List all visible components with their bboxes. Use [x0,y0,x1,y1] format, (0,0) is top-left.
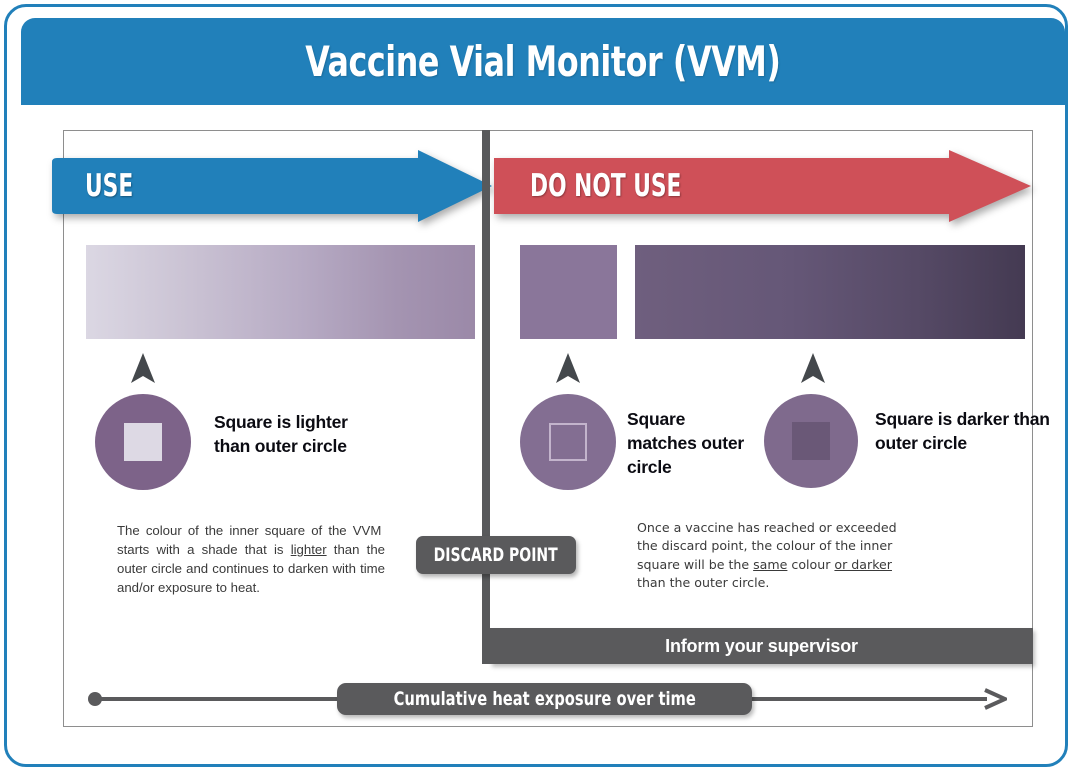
discard-point-label: DISCARD POINT [434,544,558,566]
use-banner: USE [48,150,492,222]
timeline-label-badge: Cumulative heat exposure over time [337,683,752,715]
colour-scale-solid-block [520,245,617,339]
inform-supervisor-bar: Inform your supervisor [490,628,1033,664]
do-not-use-banner: DO NOT USE [494,150,1031,222]
use-description-text: The colour of the inner square of the VV… [117,521,385,598]
discard-point-divider [482,130,490,664]
inform-supervisor-label: Inform your supervisor [665,636,858,657]
timeline-axis: Cumulative heat exposure over time [87,679,1007,719]
poster-header: Vaccine Vial Monitor (VVM) [21,18,1065,105]
vvm-inner-square [549,423,587,461]
vvm-caption-darker: Square is darker than outer circle [875,407,1050,455]
vvm-symbol-lighter [95,394,191,490]
vvm-symbol-darker [764,394,858,488]
vvm-caption-lighter: Square is lighter than outer circle [214,410,374,458]
up-arrow-cursor-icon [129,352,157,386]
up-arrow-cursor-icon [554,352,582,386]
vvm-symbol-match [520,394,616,490]
do-not-use-banner-label: DO NOT USE [530,150,681,222]
use-banner-label: USE [85,150,133,222]
page-title: Vaccine Vial Monitor (VVM) [305,37,780,86]
vvm-inner-square [124,423,162,461]
colour-scale-dark-gradient [635,245,1025,339]
vvm-inner-square [792,422,830,460]
discard-point-badge: DISCARD POINT [416,536,576,574]
up-arrow-cursor-icon [799,352,827,386]
do-not-use-description-text: Once a vaccine has reached or exceeded t… [637,519,905,592]
poster-frame: Vaccine Vial Monitor (VVM) USE DO NOT US… [4,4,1068,767]
vvm-caption-match: Square matches outer circle [627,407,757,479]
colour-scale-light-gradient [86,245,475,339]
timeline-label: Cumulative heat exposure over time [393,688,695,710]
